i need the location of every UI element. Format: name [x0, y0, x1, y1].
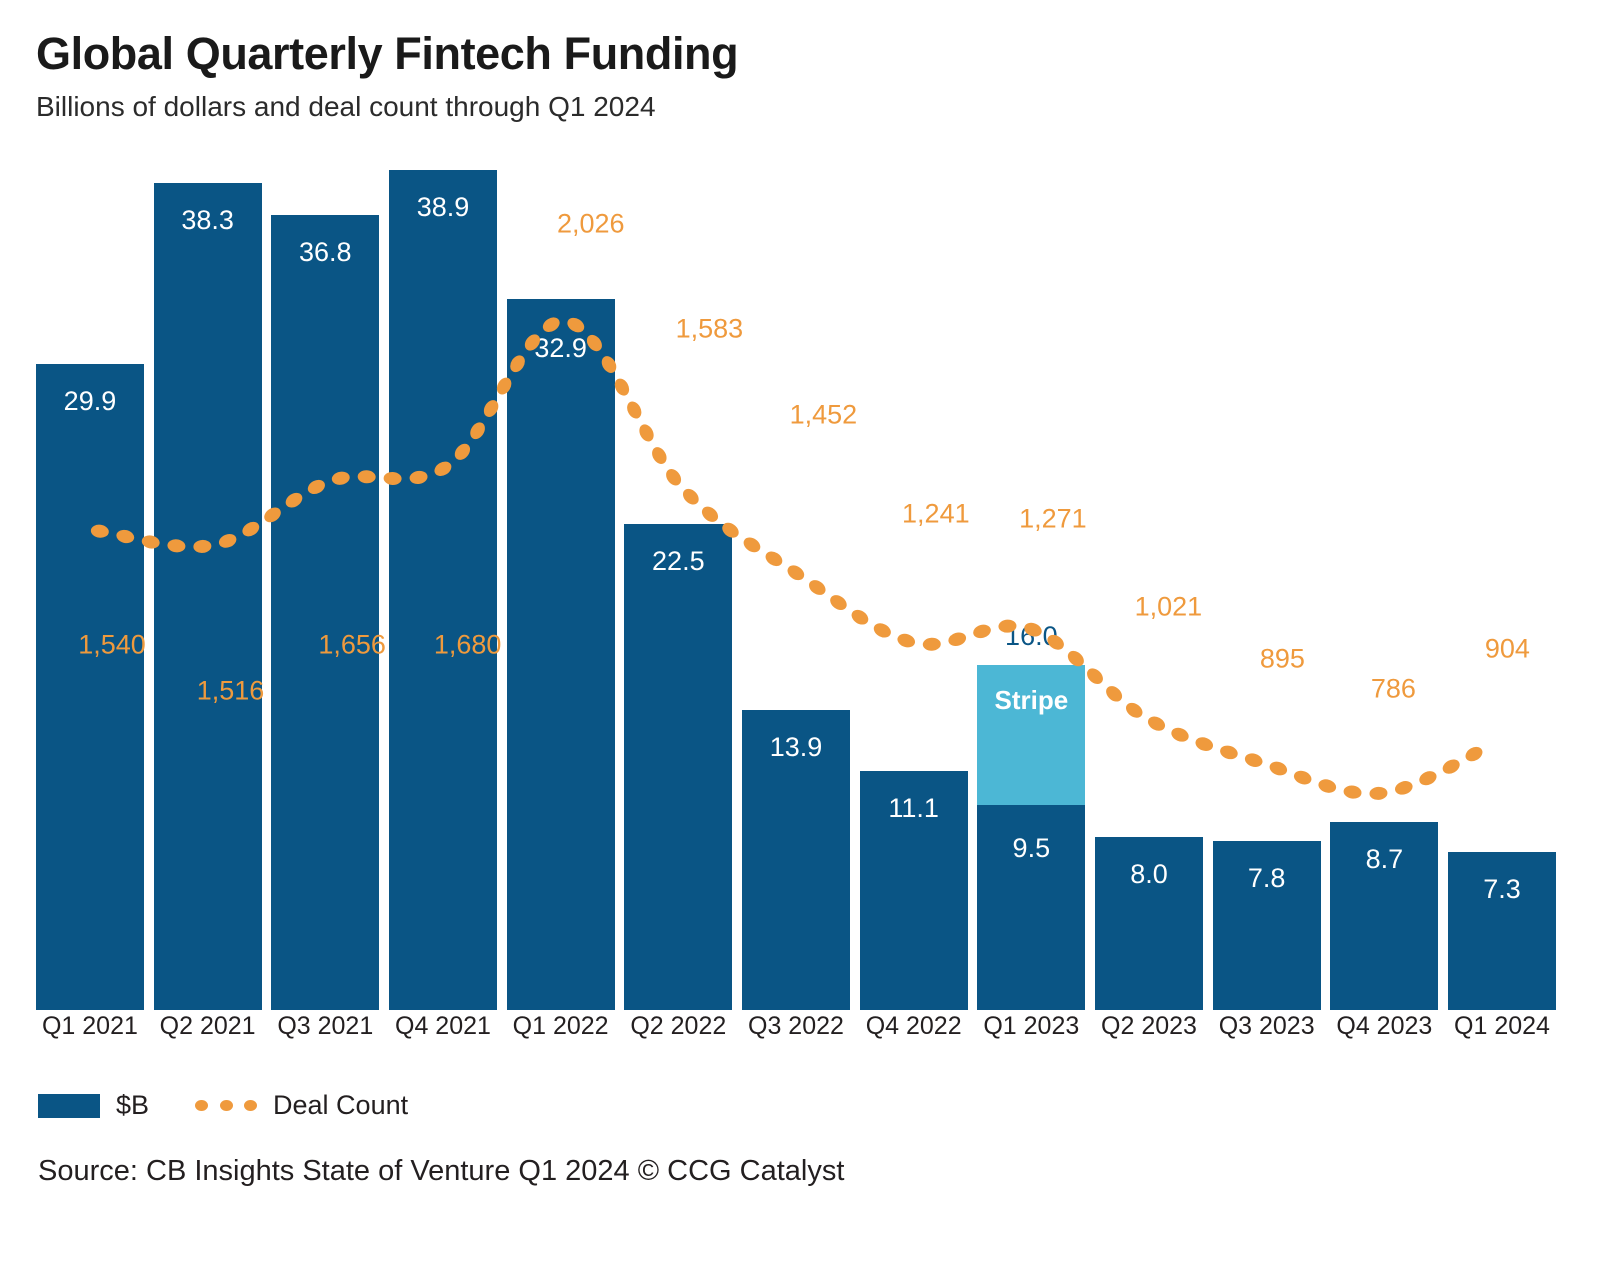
- bar-slot[interactable]: 22.5: [624, 170, 732, 1010]
- chart-header: Global Quarterly Fintech Funding Billion…: [36, 30, 1556, 123]
- bar-segment-base[interactable]: 22.5: [624, 524, 732, 1010]
- bar-stack: 8.0: [1095, 837, 1203, 1010]
- bar-slot[interactable]: 11.1: [860, 170, 968, 1010]
- chart-legend: $B Deal Count: [38, 1090, 408, 1121]
- bar-stack: Stripe9.516.0: [977, 665, 1085, 1010]
- bar-base-value-label: 9.5: [977, 833, 1085, 864]
- chart-subtitle: Billions of dollars and deal count throu…: [36, 91, 1556, 123]
- legend-item-bar[interactable]: $B: [38, 1090, 149, 1121]
- bar-slot[interactable]: 7.3: [1448, 170, 1556, 1010]
- bar-value-label: 22.5: [624, 546, 732, 577]
- bar-value-label: 7.3: [1448, 874, 1556, 905]
- x-axis: Q1 2021Q2 2021Q3 2021Q4 2021Q1 2022Q2 20…: [36, 1012, 1556, 1041]
- x-axis-tick-label: Q4 2022: [860, 1012, 968, 1041]
- bar-stack: 7.8: [1213, 841, 1321, 1010]
- bar-segment-base[interactable]: 8.7: [1330, 822, 1438, 1010]
- bar-slot[interactable]: 8.0: [1095, 170, 1203, 1010]
- bar-slot[interactable]: 7.8: [1213, 170, 1321, 1010]
- bar-segment-stripe[interactable]: Stripe: [977, 665, 1085, 805]
- x-axis-tick-label: Q3 2022: [742, 1012, 850, 1041]
- bar-slot[interactable]: 36.8: [271, 170, 379, 1010]
- chart-page: Global Quarterly Fintech Funding Billion…: [0, 0, 1600, 1266]
- source-note: Source: CB Insights State of Venture Q1 …: [38, 1155, 844, 1188]
- bar-stack: 22.5: [624, 524, 732, 1010]
- bar-stack: 13.9: [742, 710, 850, 1010]
- bar-value-label: 8.0: [1095, 859, 1203, 890]
- dotted-line-swatch-icon: [195, 1094, 257, 1118]
- bar-slot[interactable]: 32.9: [507, 170, 615, 1010]
- bar-value-label: 13.9: [742, 732, 850, 763]
- x-axis-tick-label: Q3 2021: [271, 1012, 379, 1041]
- x-axis-tick-label: Q2 2021: [154, 1012, 262, 1041]
- bar-value-label: 11.1: [860, 793, 968, 824]
- bar-value-label: 32.9: [507, 333, 615, 364]
- bar-stack: 8.7: [1330, 822, 1438, 1010]
- bar-segment-base[interactable]: 9.5: [977, 805, 1085, 1010]
- bar-slot[interactable]: 38.9: [389, 170, 497, 1010]
- bar-slot[interactable]: 13.9: [742, 170, 850, 1010]
- stripe-segment-label: Stripe: [977, 685, 1085, 716]
- bar-value-label: 7.8: [1213, 863, 1321, 894]
- x-axis-tick-label: Q1 2021: [36, 1012, 144, 1041]
- x-axis-tick-label: Q2 2022: [624, 1012, 732, 1041]
- bar-stack: 29.9: [36, 364, 144, 1010]
- x-axis-tick-label: Q4 2023: [1330, 1012, 1438, 1041]
- bar-stack: 38.9: [389, 170, 497, 1010]
- bar-stack: 11.1: [860, 771, 968, 1010]
- bar-segment-base[interactable]: 7.8: [1213, 841, 1321, 1010]
- bar-stack: 7.3: [1448, 852, 1556, 1010]
- bar-value-label: 38.3: [154, 205, 262, 236]
- bar-slot[interactable]: 8.7: [1330, 170, 1438, 1010]
- bar-series: 29.938.336.838.932.922.513.911.1Stripe9.…: [36, 170, 1556, 1010]
- x-axis-tick-label: Q4 2021: [389, 1012, 497, 1041]
- legend-label-line: Deal Count: [273, 1090, 408, 1121]
- bar-slot[interactable]: 38.3: [154, 170, 262, 1010]
- bar-swatch-icon: [38, 1094, 100, 1118]
- bar-segment-base[interactable]: 8.0: [1095, 837, 1203, 1010]
- bar-segment-base[interactable]: 36.8: [271, 215, 379, 1010]
- page-title: Global Quarterly Fintech Funding: [36, 30, 1556, 77]
- bar-total-value-label: 16.0: [977, 621, 1085, 652]
- x-axis-tick-label: Q1 2022: [507, 1012, 615, 1041]
- bar-stack: 38.3: [154, 183, 262, 1010]
- bar-slot[interactable]: Stripe9.516.0: [977, 170, 1085, 1010]
- bar-segment-base[interactable]: 7.3: [1448, 852, 1556, 1010]
- bar-segment-base[interactable]: 11.1: [860, 771, 968, 1010]
- bar-value-label: 36.8: [271, 237, 379, 268]
- bar-segment-base[interactable]: 13.9: [742, 710, 850, 1010]
- bar-stack: 32.9: [507, 299, 615, 1010]
- plot-area: 29.938.336.838.932.922.513.911.1Stripe9.…: [36, 170, 1556, 1010]
- legend-item-line[interactable]: Deal Count: [195, 1090, 408, 1121]
- x-axis-tick-label: Q1 2024: [1448, 1012, 1556, 1041]
- bar-segment-base[interactable]: 38.9: [389, 170, 497, 1010]
- bar-stack: 36.8: [271, 215, 379, 1010]
- x-axis-tick-label: Q1 2023: [977, 1012, 1085, 1041]
- legend-label-bar: $B: [116, 1090, 149, 1121]
- x-axis-tick-label: Q2 2023: [1095, 1012, 1203, 1041]
- bar-segment-base[interactable]: 32.9: [507, 299, 615, 1010]
- bar-value-label: 8.7: [1330, 844, 1438, 875]
- x-axis-tick-label: Q3 2023: [1213, 1012, 1321, 1041]
- bar-segment-base[interactable]: 29.9: [36, 364, 144, 1010]
- bar-value-label: 38.9: [389, 192, 497, 223]
- bar-value-label: 29.9: [36, 386, 144, 417]
- bar-slot[interactable]: 29.9: [36, 170, 144, 1010]
- bar-segment-base[interactable]: 38.3: [154, 183, 262, 1010]
